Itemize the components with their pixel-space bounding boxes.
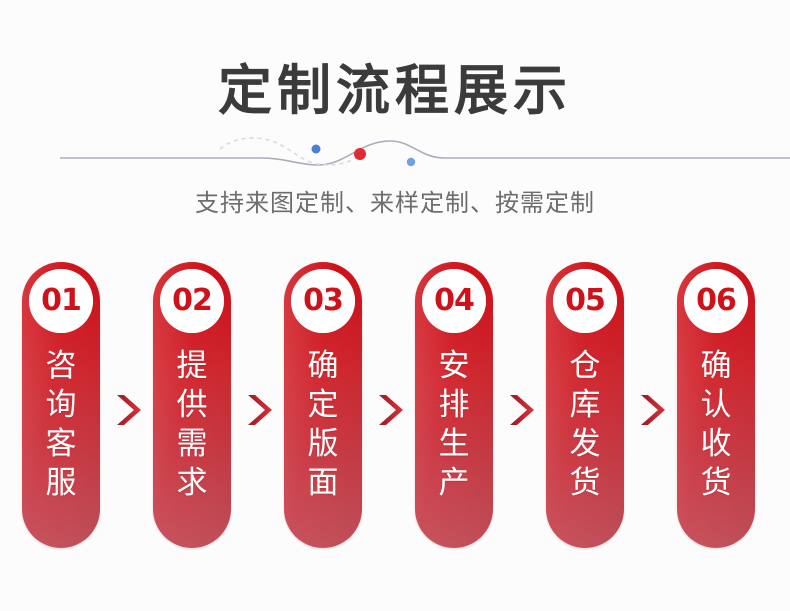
step-label: 安排生产 <box>432 347 476 503</box>
chevron-right-icon <box>112 393 142 427</box>
wave-divider-icon <box>0 133 790 179</box>
process-step-3[interactable]: 03 确定版面 <box>284 262 362 548</box>
process-step-2[interactable]: 02 提供需求 <box>153 262 231 548</box>
page-title: 定制流程展示 <box>0 0 790 124</box>
step-label: 仓库发货 <box>563 347 607 503</box>
step-number: 06 <box>696 286 736 316</box>
banner-header: 定制流程展示 <box>0 0 790 124</box>
step-separator-4 <box>493 262 546 548</box>
blue-dot-left <box>312 145 321 154</box>
step-number: 04 <box>434 286 474 316</box>
custom-process-banner: 定制流程展示 支持来图定制、来样定制、按需定制 01 咨询客服 <box>0 0 790 611</box>
step-separator-2 <box>231 262 284 548</box>
chevron-right-icon <box>374 393 404 427</box>
step-number-badge: 06 <box>684 269 748 333</box>
step-number-badge: 01 <box>29 269 93 333</box>
process-steps-row: 01 咨询客服 02 提供需求 <box>22 262 768 552</box>
step-number-badge: 05 <box>553 269 617 333</box>
process-step-1[interactable]: 01 咨询客服 <box>22 262 100 548</box>
step-number: 01 <box>41 286 81 316</box>
red-dot-center <box>354 148 366 160</box>
step-label: 确认收货 <box>694 347 738 503</box>
step-number: 03 <box>303 286 343 316</box>
step-number-badge: 02 <box>160 269 224 333</box>
step-label: 咨询客服 <box>39 347 83 503</box>
process-step-6[interactable]: 06 确认收货 <box>677 262 755 548</box>
step-number: 02 <box>172 286 212 316</box>
wave-divider <box>0 133 790 179</box>
step-separator-1 <box>100 262 153 548</box>
chevron-right-icon <box>505 393 535 427</box>
banner-subtitle: 支持来图定制、来样定制、按需定制 <box>0 186 790 220</box>
step-number: 05 <box>565 286 605 316</box>
process-step-4[interactable]: 04 安排生产 <box>415 262 493 548</box>
step-separator-3 <box>362 262 415 548</box>
step-number-badge: 03 <box>291 269 355 333</box>
blue-dot-right <box>407 158 415 166</box>
chevron-right-icon <box>636 393 666 427</box>
step-label: 提供需求 <box>170 347 214 503</box>
step-separator-5 <box>624 262 677 548</box>
step-number-badge: 04 <box>422 269 486 333</box>
step-label: 确定版面 <box>301 347 345 503</box>
chevron-right-icon <box>243 393 273 427</box>
process-step-5[interactable]: 05 仓库发货 <box>546 262 624 548</box>
